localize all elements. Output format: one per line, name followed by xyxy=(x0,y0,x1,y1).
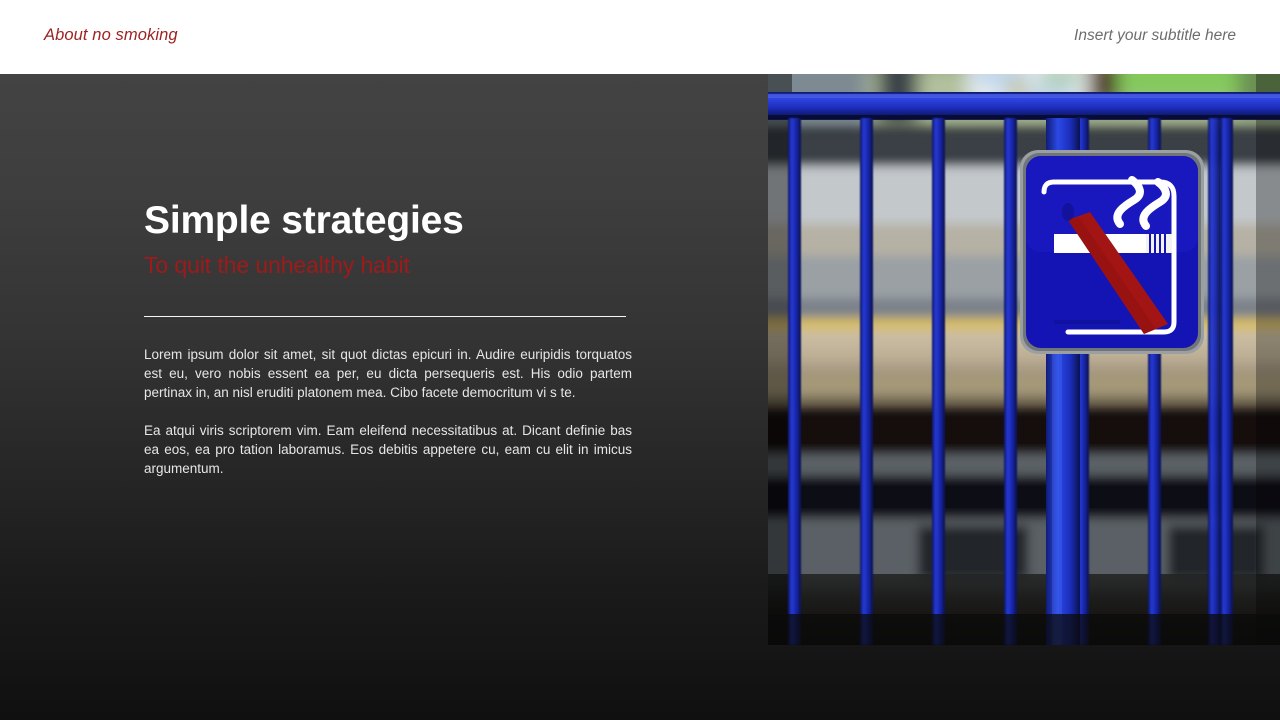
slide-root: About no smoking Insert your subtitle he… xyxy=(0,0,1280,720)
body-paragraph-1: Lorem ipsum dolor sit amet, sit quot dic… xyxy=(144,345,632,402)
slide-title: Simple strategies xyxy=(144,198,630,244)
header-subtitle: Insert your subtitle here xyxy=(1074,27,1236,45)
text-block: Simple strategies To quit the unhealthy … xyxy=(144,198,630,478)
body-paragraph-2: Ea atqui viris scriptorem vim. Eam eleif… xyxy=(144,421,632,478)
slide-header: About no smoking Insert your subtitle he… xyxy=(0,0,1280,74)
slide-subtitle: To quit the unhealthy habit xyxy=(144,250,630,280)
photo-illustration xyxy=(768,74,1280,645)
no-smoking-sign xyxy=(1020,150,1204,354)
header-title: About no smoking xyxy=(44,26,178,45)
no-smoking-photo xyxy=(768,74,1280,645)
title-divider xyxy=(144,316,626,317)
